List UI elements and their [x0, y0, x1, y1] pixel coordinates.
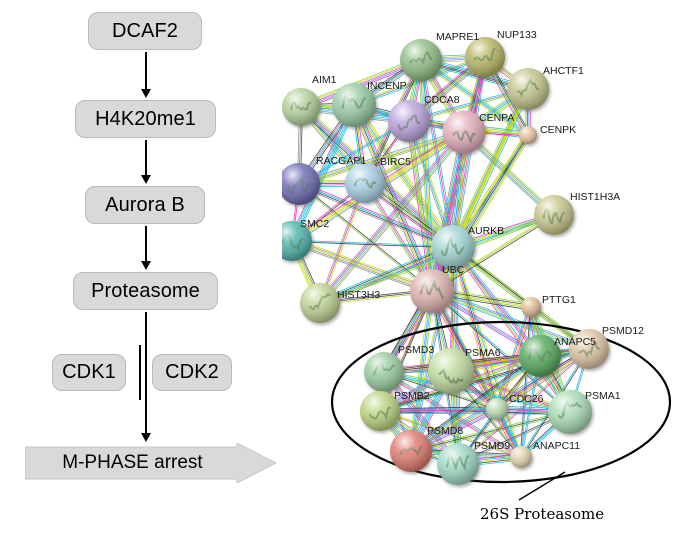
- node-gloss: [486, 398, 508, 420]
- pathway-box-label: Proteasome: [91, 280, 200, 303]
- node-gloss: [282, 88, 320, 126]
- pathway-box-dcaf2: DCAF2: [88, 12, 202, 50]
- pathway-box-cdk1: CDK1: [52, 354, 126, 391]
- network-node-psmd3[interactable]: [364, 352, 404, 392]
- network-node-anapc11[interactable]: [510, 446, 532, 468]
- node-label-hist1h3a: HIST1H3A: [570, 192, 620, 203]
- network-node-aim1[interactable]: [282, 88, 320, 126]
- node-label-ahctf1: AHCTF1: [543, 66, 584, 77]
- node-gloss: [521, 297, 541, 317]
- node-label-birc5: BIRC5: [380, 157, 411, 168]
- node-gloss: [300, 283, 340, 323]
- figure-root: DCAF2 H4K20me1 Aurora B Proteasome CDK1 …: [0, 0, 699, 546]
- node-gloss: [400, 39, 442, 81]
- node-gloss: [364, 352, 404, 392]
- pathway-connector-3: [145, 226, 147, 262]
- pathway-box-label: Aurora B: [105, 194, 185, 217]
- network-node-cdca8[interactable]: [388, 100, 430, 142]
- string-network-panel: AIM1INCENPMAPRE1NUP133AHCTF1CDCA8CENPACE…: [282, 0, 699, 546]
- node-label-psma1: PSMA1: [585, 391, 621, 402]
- network-node-psmd9[interactable]: [437, 443, 479, 485]
- node-gloss: [390, 430, 432, 472]
- network-edge: [452, 248, 569, 413]
- pathway-connector-1: [145, 52, 147, 90]
- network-node-nup133[interactable]: [465, 37, 505, 77]
- network-node-mapre1[interactable]: [400, 39, 442, 81]
- node-label-ubc: UBC: [442, 265, 464, 276]
- node-label-aim1: AIM1: [312, 75, 337, 86]
- pathway-box-aurora-b: Aurora B: [85, 186, 205, 224]
- node-label-cenpa: CENPA: [479, 113, 514, 124]
- network-node-birc5[interactable]: [345, 163, 385, 203]
- pathway-arrowhead-3-icon: [141, 261, 151, 270]
- network-graph: [282, 0, 699, 546]
- leader-line: [519, 472, 565, 500]
- pathway-box-h4k20me1: H4K20me1: [75, 100, 216, 138]
- network-edge: [293, 238, 433, 288]
- pathway-box-label: CDK1: [62, 361, 116, 384]
- node-gloss: [388, 100, 430, 142]
- node-label-psma6: PSMA6: [465, 348, 501, 359]
- pathway-connector-4: [145, 312, 147, 434]
- node-gloss: [519, 126, 537, 144]
- network-edge: [520, 307, 530, 457]
- network-node-cdc26[interactable]: [486, 398, 508, 420]
- node-gloss: [534, 195, 574, 235]
- pathway-arrowhead-4-icon: [141, 433, 151, 442]
- network-node-psmd8[interactable]: [390, 430, 432, 472]
- node-label-smc2: SMC2: [300, 219, 329, 230]
- proteasome-annotation-label: 26S Proteasome: [480, 505, 604, 523]
- pathway-arrowhead-2-icon: [141, 175, 151, 184]
- m-phase-arrest-arrow: M-PHASE arrest: [25, 443, 276, 483]
- node-label-psmd8: PSMD8: [427, 426, 463, 437]
- node-label-anapc11: ANAPC11: [533, 441, 580, 452]
- cdk-divider: [139, 345, 141, 400]
- node-label-cdc26: CDC26: [509, 394, 543, 405]
- pathway-box-cdk2: CDK2: [152, 354, 232, 391]
- network-edge: [454, 246, 571, 411]
- network-node-hist3h3[interactable]: [300, 283, 340, 323]
- node-label-nup133: NUP133: [497, 30, 537, 41]
- node-gloss: [465, 37, 505, 77]
- node-label-cdca8: CDCA8: [424, 95, 460, 106]
- node-label-racgap1: RACGAP1: [316, 156, 366, 167]
- annotation-leader-line: [519, 472, 565, 500]
- network-node-hist1h3a[interactable]: [534, 195, 574, 235]
- node-label-pttg1: PTTG1: [542, 295, 576, 306]
- node-label-psmd9: PSMD9: [474, 441, 510, 452]
- node-label-psmb2: PSMB2: [394, 391, 430, 402]
- pathway-flowchart: DCAF2 H4K20me1 Aurora B Proteasome CDK1 …: [0, 0, 282, 546]
- node-label-psmd12: PSMD12: [602, 326, 644, 337]
- node-gloss: [510, 446, 532, 468]
- node-label-psmd3: PSMD3: [398, 345, 434, 356]
- pathway-box-label: DCAF2: [112, 20, 178, 43]
- network-edge: [453, 247, 570, 412]
- node-label-anapc5: ANAPC5: [554, 337, 596, 348]
- node-gloss: [437, 443, 479, 485]
- node-label-incenp: INCENP: [367, 81, 407, 92]
- node-label-hist3h3: HIST3H3: [337, 290, 380, 301]
- node-label-cenpk: CENPK: [540, 125, 576, 136]
- node-label-aurkb: AURKB: [468, 226, 504, 237]
- pathway-arrowhead-1-icon: [141, 89, 151, 98]
- pathway-connector-2: [145, 140, 147, 176]
- pathway-box-proteasome: Proteasome: [73, 272, 218, 310]
- node-label-mapre1: MAPRE1: [436, 32, 479, 43]
- network-node-pttg1[interactable]: [521, 297, 541, 317]
- pathway-box-label: H4K20me1: [95, 108, 196, 131]
- m-phase-arrest-label: M-PHASE arrest: [25, 443, 240, 483]
- network-node-cenpk[interactable]: [519, 126, 537, 144]
- node-gloss: [345, 163, 385, 203]
- pathway-box-label: CDK2: [165, 361, 219, 384]
